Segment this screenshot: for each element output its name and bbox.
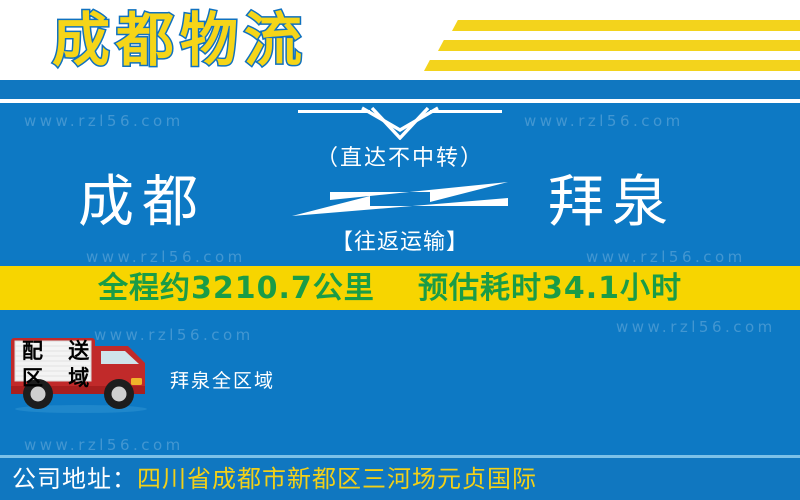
header-stripe-1 xyxy=(452,20,800,31)
watermark: www.rzl56.com xyxy=(24,436,184,454)
truck-box-line2: 区 域 xyxy=(22,365,102,392)
blue-top-strip xyxy=(0,80,800,99)
bidirectional-arrow-icon xyxy=(290,178,510,220)
header-stripe-2 xyxy=(438,40,800,51)
address-label: 公司地址： xyxy=(12,465,137,493)
duration-text: 预估耗时34.1小时 xyxy=(418,270,682,308)
distance-text: 全程约3210.7公里 xyxy=(98,270,375,308)
watermark: www.rzl56.com xyxy=(616,318,776,336)
watermark: www.rzl56.com xyxy=(524,112,684,130)
truck-box-label: 配 送 区 域 xyxy=(22,338,102,394)
truck-box-line1: 配 送 xyxy=(22,338,102,365)
destination-city: 拜泉 xyxy=(548,168,676,238)
logistics-poster: 成都物流 www.rzl56.com www.rzl56.com www.rzl… xyxy=(0,0,800,500)
coverage-area-text: 拜泉全区域 xyxy=(170,366,275,393)
poster-title: 成都物流 xyxy=(52,4,308,76)
chevron-rule-right xyxy=(430,110,502,113)
address-value: 四川省成都市新都区三河场元贞国际 xyxy=(137,465,537,493)
header-stripe-3 xyxy=(424,60,800,71)
company-address: 公司地址：四川省成都市新都区三河场元贞国际 xyxy=(12,464,537,494)
poster-header: 成都物流 xyxy=(0,0,800,80)
chevron-down-double-icon xyxy=(360,104,440,140)
watermark: www.rzl56.com xyxy=(24,112,184,130)
origin-city: 成都 xyxy=(78,168,206,238)
